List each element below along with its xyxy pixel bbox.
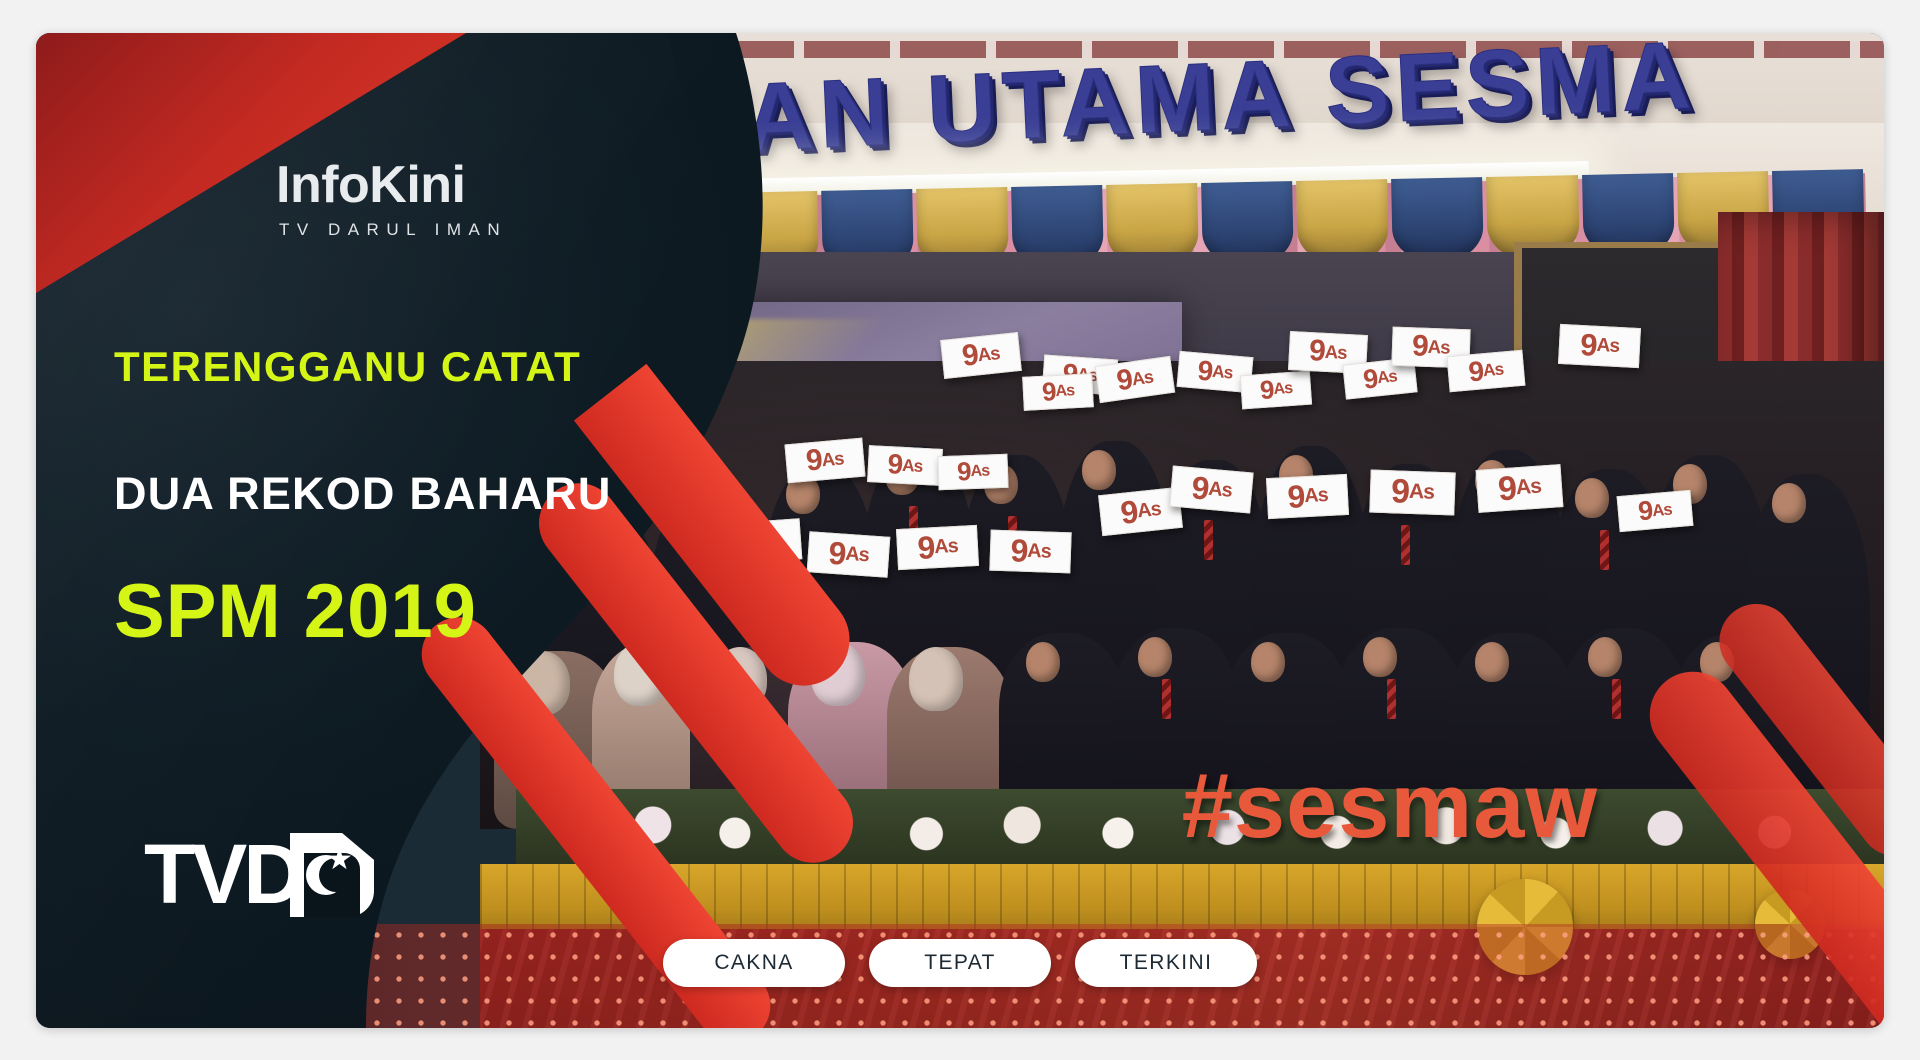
result-card: 9As [867,445,943,486]
result-card: 9As [1022,373,1094,410]
tvdi-logo: TVD ★ [144,833,374,917]
result-card: 9As [785,438,866,483]
result-card: 9As [1446,350,1525,392]
brand-name: InfoKini [276,159,507,211]
result-card: 9As [1169,465,1254,513]
result-card: 9As [896,524,979,569]
result-card: 9As [1476,464,1564,513]
floor-hashtag-letters: #sesmaw [1182,754,1598,859]
result-card: 9As [1616,490,1693,532]
tag-cakna[interactable]: CAKNA [663,939,845,987]
result-card: 9As [807,532,891,578]
tag-tepat[interactable]: TEPAT [869,939,1051,987]
result-card: 9As [1558,323,1641,367]
headline-line-3: SPM 2019 [114,568,477,655]
crescent-moon-star-icon: ★ [290,833,374,917]
result-card: 9As [1240,371,1312,410]
headline-line-2: DUA REKOD BAHARU [114,468,612,520]
result-card: 9As [1370,469,1456,515]
tag-terkini[interactable]: TERKINI [1075,939,1257,987]
news-graphic-card: DEWAN UTAMA SESMA Majlis SESMA Ce [36,33,1884,1028]
brand-subtitle: TV DARUL IMAN [276,220,507,240]
footer-tag-row: CAKNA TEPAT TERKINI [36,939,1884,987]
result-card: 9As [1266,474,1349,519]
brand-block: InfoKini TV DARUL IMAN [276,159,507,240]
tvdi-logo-text: TVD [144,836,300,913]
headline-line-1: TERENGGANU CATAT [114,343,581,391]
screenshot-root: DEWAN UTAMA SESMA Majlis SESMA Ce [0,0,1920,1060]
result-card: 9As [937,454,1008,490]
result-card: 9As [989,529,1072,573]
